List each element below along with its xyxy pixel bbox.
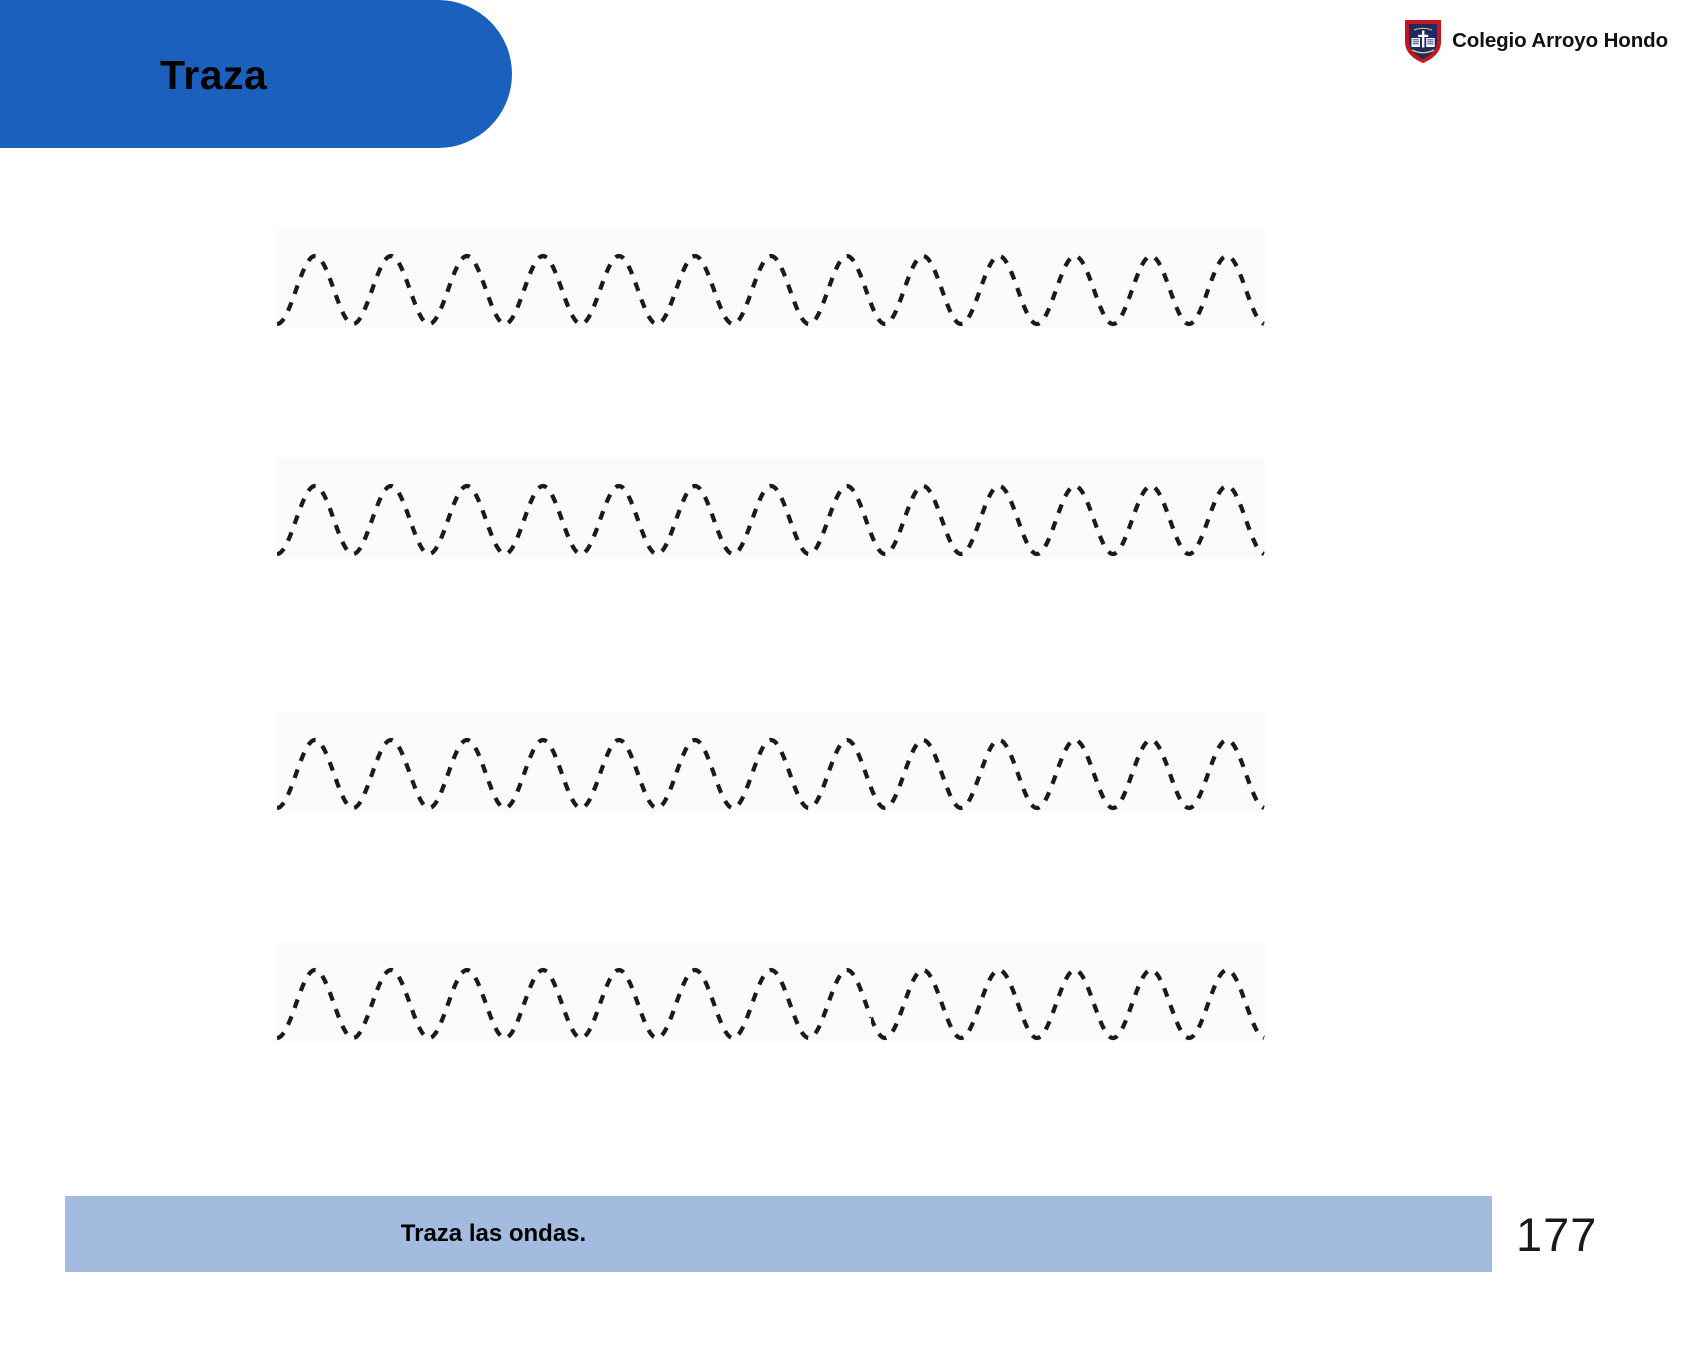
page-title: Traza xyxy=(160,52,267,99)
wave-segment xyxy=(277,712,1265,812)
wave-row[interactable] xyxy=(277,942,1265,1042)
brand-lockup: Colegio Arroyo Hondo xyxy=(1403,18,1668,64)
instruction-text: Traza las ondas. xyxy=(65,1196,1492,1272)
wave-row[interactable] xyxy=(277,228,1265,328)
wave-segment xyxy=(277,228,1265,328)
title-banner: Traza xyxy=(0,0,512,148)
wave-segment xyxy=(277,458,1265,558)
wave-row[interactable] xyxy=(277,712,1265,812)
tracing-exercise-area xyxy=(0,0,1700,1360)
wave-segment xyxy=(277,942,871,1042)
footer-instruction-bar: Traza las ondas. xyxy=(65,1196,1492,1272)
worksheet-page: Traza xyxy=(0,0,1700,1360)
wave-segment xyxy=(871,942,1265,1042)
page-number: 177 xyxy=(1516,1196,1597,1272)
school-shield-icon xyxy=(1403,18,1443,64)
brand-name: Colegio Arroyo Hondo xyxy=(1452,29,1668,53)
wave-row[interactable] xyxy=(277,458,1265,558)
